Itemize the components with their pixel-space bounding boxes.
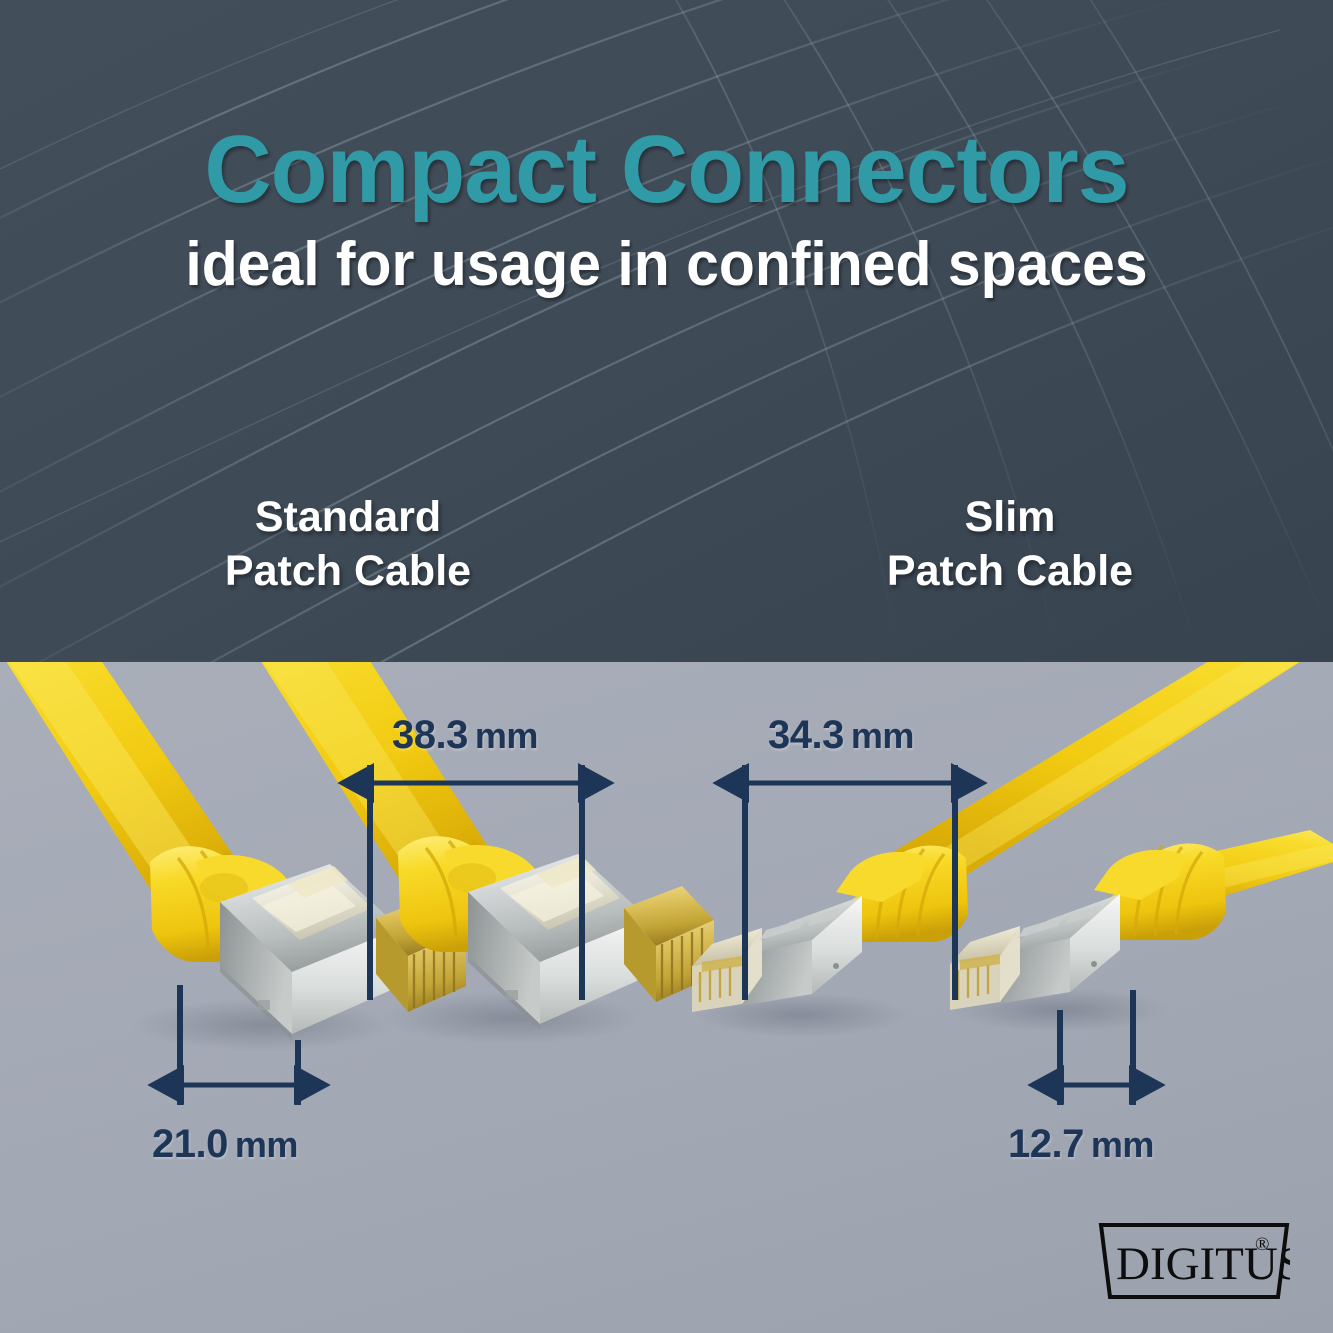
dimension-value: 38.3 (392, 713, 468, 757)
header-panel: Compact Connectors ideal for usage in co… (0, 0, 1333, 662)
dimension-label-slim-overall: 34.3mm (768, 713, 914, 758)
dimension-label-slim-width: 12.7mm (1008, 1122, 1154, 1167)
page-title: Compact Connectors (20, 122, 1313, 218)
dimension-unit: mm (475, 715, 538, 756)
brand-logo: DIGITUS ® (1098, 1222, 1290, 1300)
category-label-slim: Slim Patch Cable (790, 490, 1230, 598)
digitus-logo-mark: DIGITUS ® (1098, 1222, 1290, 1300)
dimension-value: 12.7 (1008, 1122, 1084, 1166)
dimension-unit: mm (1091, 1124, 1154, 1165)
dimension-value: 34.3 (768, 713, 844, 757)
dimension-unit: mm (235, 1124, 298, 1165)
dimension-label-standard-overall: 38.3mm (392, 713, 538, 758)
page-subtitle: ideal for usage in confined spaces (33, 232, 1299, 297)
header-text-block: Compact Connectors ideal for usage in co… (0, 122, 1333, 297)
infographic-canvas: Compact Connectors ideal for usage in co… (0, 0, 1333, 1333)
dimension-label-standard-width: 21.0mm (152, 1122, 298, 1167)
dimension-value: 21.0 (152, 1122, 228, 1166)
category-label-standard: Standard Patch Cable (128, 490, 568, 598)
registered-trademark-icon: ® (1255, 1234, 1269, 1255)
dimension-unit: mm (851, 715, 914, 756)
